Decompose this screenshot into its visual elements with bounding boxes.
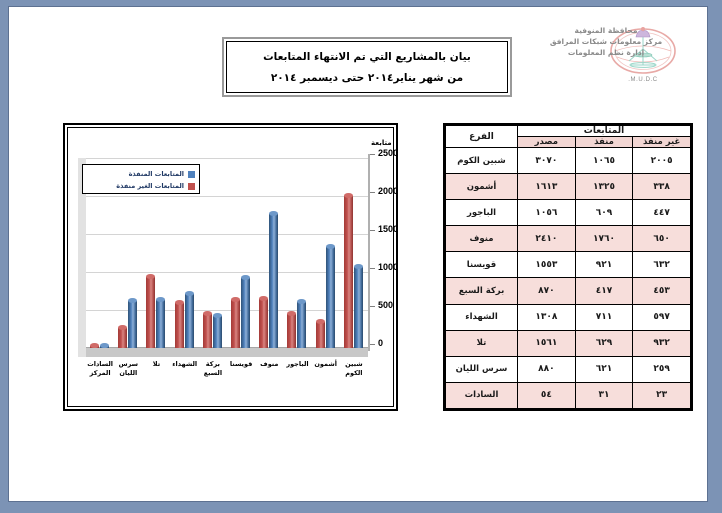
- bar-group: [312, 158, 340, 348]
- bar-done: [156, 300, 165, 348]
- y-tick-label: 500: [378, 300, 393, 310]
- table-row: ٢٥٩٦٢١٨٨٠سرس الليان: [446, 356, 691, 382]
- bar-undone: [146, 277, 155, 348]
- y-axis-unit-label: متابعة: [371, 139, 392, 147]
- cell-branch: أشمون: [446, 174, 518, 200]
- table-header-row-top: المتابعات الفرع: [446, 126, 691, 137]
- legend-item-done: المتابعات المنفذة: [87, 168, 195, 180]
- legend-label-done: المتابعات المنفذة: [129, 170, 184, 178]
- cell-done: ٦٠٩: [575, 200, 633, 226]
- table-row: ٦٥٠١٧٦٠٢٤١٠منوف: [446, 226, 691, 252]
- report-title-box: بيان بالمشاريع التي تم الانتهاء المتابعا…: [222, 37, 512, 97]
- bar-undone: [231, 300, 240, 348]
- cell-branch: شبين الكوم: [446, 148, 518, 174]
- cell-issued: ٣٠٧٠: [518, 148, 576, 174]
- y-tick-label: 0: [378, 338, 383, 348]
- bar-undone: [90, 346, 99, 348]
- org-line-center: مركز معلومات شبكات المرافق: [511, 36, 701, 47]
- page-header: M.U.D.C. محافظة المنوفية مركز معلومات شب…: [9, 7, 709, 99]
- y-tick-mark: [370, 192, 375, 193]
- logo-text: M.U.D.C.: [628, 77, 658, 83]
- cell-branch: قويسنا: [446, 252, 518, 278]
- cell-done: ٣١: [575, 382, 633, 408]
- x-tick-label: تلا: [142, 360, 172, 369]
- legend-swatch-red-icon: [188, 183, 195, 190]
- cell-issued: ١٥٦١: [518, 330, 576, 356]
- x-tick-label: قويسنا: [226, 360, 256, 369]
- cell-undone: ٦٥٠: [633, 226, 691, 252]
- x-tick-label: شبين الكوم: [339, 360, 369, 377]
- x-tick-label: الشهداء: [170, 360, 200, 369]
- bar-undone: [259, 299, 268, 348]
- y-tick-mark: [370, 306, 375, 307]
- y-tick-label: 1500: [378, 224, 398, 234]
- cell-done: ٤١٧: [575, 278, 633, 304]
- x-axis-labels: السادات المركزسرس الليانتلاالشهداءبركة ا…: [86, 360, 368, 406]
- cell-undone: ٤٥٣: [633, 278, 691, 304]
- y-tick-mark: [370, 268, 375, 269]
- org-line-governorate: محافظة المنوفية: [511, 25, 701, 36]
- cell-issued: ١٥٥٣: [518, 252, 576, 278]
- y-tick-label: 1000: [378, 262, 398, 272]
- bar-group: [227, 158, 255, 348]
- cell-issued: ١٣٠٨: [518, 304, 576, 330]
- y-axis-ticks: 05001000150020002500: [370, 150, 412, 356]
- table-row: ٢٣٣١٥٤السادات: [446, 382, 691, 408]
- table-group-header: المتابعات: [518, 126, 691, 137]
- x-tick-label: منوف: [254, 360, 284, 369]
- bar-undone: [287, 314, 296, 348]
- cell-undone: ٦٣٢: [633, 252, 691, 278]
- org-line-department: إدارة نظم المعلومات: [511, 47, 701, 58]
- y-tick-mark: [370, 154, 375, 155]
- bar-group: [283, 158, 311, 348]
- x-tick-label: سرس الليان: [113, 360, 143, 377]
- bar-done: [326, 247, 335, 348]
- cell-undone: ٢٣: [633, 382, 691, 408]
- bar-group: [255, 158, 283, 348]
- report-title-line2: من شهر يناير٢٠١٤ حتى ديسمبر ٢٠١٤: [271, 72, 463, 84]
- report-page: M.U.D.C. محافظة المنوفية مركز معلومات شب…: [8, 6, 708, 502]
- organization-block: محافظة المنوفية مركز معلومات شبكات المرا…: [511, 25, 701, 58]
- cell-branch: منوف: [446, 226, 518, 252]
- cell-branch: الباجور: [446, 200, 518, 226]
- table-header-branch: الفرع: [446, 126, 518, 148]
- table-row: ٣٣٨١٣٢٥١٦١٣أشمون: [446, 174, 691, 200]
- x-tick-label: أشمون: [311, 360, 341, 369]
- bar-done: [185, 294, 194, 348]
- bar-done: [269, 214, 278, 348]
- table-row: ٦٣٢٩٢١١٥٥٣قويسنا: [446, 252, 691, 278]
- bar-done: [241, 278, 250, 348]
- y-tick-label: 2000: [378, 186, 398, 196]
- y-tick-mark: [370, 230, 375, 231]
- legend-item-undone: المتابعات الغير منفذة: [87, 180, 195, 192]
- table-header-issued: مصدر: [518, 137, 576, 148]
- bar-group: [199, 158, 227, 348]
- cell-issued: ١٠٥٦: [518, 200, 576, 226]
- cell-issued: ٨٧٠: [518, 278, 576, 304]
- cell-undone: ٩٣٢: [633, 330, 691, 356]
- cell-done: ٧١١: [575, 304, 633, 330]
- cell-undone: ٢٠٠٥: [633, 148, 691, 174]
- x-tick-label: السادات المركز: [85, 360, 115, 377]
- cell-undone: ٤٤٧: [633, 200, 691, 226]
- cell-issued: ٢٤١٠: [518, 226, 576, 252]
- cell-undone: ٢٥٩: [633, 356, 691, 382]
- cell-branch: تلا: [446, 330, 518, 356]
- cell-done: ١٧٦٠: [575, 226, 633, 252]
- cell-branch: بركة السبع: [446, 278, 518, 304]
- bar-done: [213, 316, 222, 348]
- table-row: ٤٤٧٦٠٩١٠٥٦الباجور: [446, 200, 691, 226]
- table-row: ٢٠٠٥١٠٦٥٣٠٧٠شبين الكوم: [446, 148, 691, 174]
- bar-undone: [175, 303, 184, 348]
- chart-frame: متابعة 05001000150020002500 المتابعات ال…: [63, 123, 398, 411]
- cell-branch: الشهداء: [446, 304, 518, 330]
- table-header-undone: غير منفذ: [633, 137, 691, 148]
- chart-floor: [86, 347, 368, 357]
- legend-swatch-blue-icon: [188, 171, 195, 178]
- cell-done: ٩٢١: [575, 252, 633, 278]
- cell-issued: ٨٨٠: [518, 356, 576, 382]
- followups-table: المتابعات الفرع غير منفذ منفذ مصدر ٢٠٠٥١…: [445, 125, 691, 409]
- cell-done: ٦٢٩: [575, 330, 633, 356]
- data-table-wrapper: المتابعات الفرع غير منفذ منفذ مصدر ٢٠٠٥١…: [443, 123, 693, 411]
- bar-done: [128, 301, 137, 348]
- bar-undone: [203, 314, 212, 348]
- table-row: ٤٥٣٤١٧٨٧٠بركة السبع: [446, 278, 691, 304]
- table-body: ٢٠٠٥١٠٦٥٣٠٧٠شبين الكوم٣٣٨١٣٢٥١٦١٣أشمون٤٤…: [446, 148, 691, 409]
- cell-branch: السادات: [446, 382, 518, 408]
- cell-undone: ٣٣٨: [633, 174, 691, 200]
- cell-done: ١٣٢٥: [575, 174, 633, 200]
- legend-label-undone: المتابعات الغير منفذة: [116, 182, 184, 190]
- x-tick-label: الباجور: [283, 360, 313, 369]
- cell-done: ١٠٦٥: [575, 148, 633, 174]
- bar-done: [100, 346, 109, 348]
- cell-issued: ١٦١٣: [518, 174, 576, 200]
- table-header-done: منفذ: [575, 137, 633, 148]
- bar-done: [297, 302, 306, 348]
- bar-done: [354, 267, 363, 348]
- bar-undone: [344, 196, 353, 348]
- y-tick-mark: [370, 344, 375, 345]
- cell-done: ٦٢١: [575, 356, 633, 382]
- x-tick-label: بركة السبع: [198, 360, 228, 377]
- bar-group: [340, 158, 368, 348]
- cell-branch: سرس الليان: [446, 356, 518, 382]
- bar-undone: [316, 322, 325, 348]
- cell-issued: ٥٤: [518, 382, 576, 408]
- chart-legend: المتابعات المنفذة المتابعات الغير منفذة: [82, 164, 200, 194]
- cell-undone: ٥٩٧: [633, 304, 691, 330]
- bar-undone: [118, 328, 127, 348]
- y-tick-label: 2500: [378, 148, 398, 158]
- table-row: ٩٣٢٦٢٩١٥٦١تلا: [446, 330, 691, 356]
- table-row: ٥٩٧٧١١١٣٠٨الشهداء: [446, 304, 691, 330]
- report-title-line1: بيان بالمشاريع التي تم الانتهاء المتابعا…: [263, 51, 471, 63]
